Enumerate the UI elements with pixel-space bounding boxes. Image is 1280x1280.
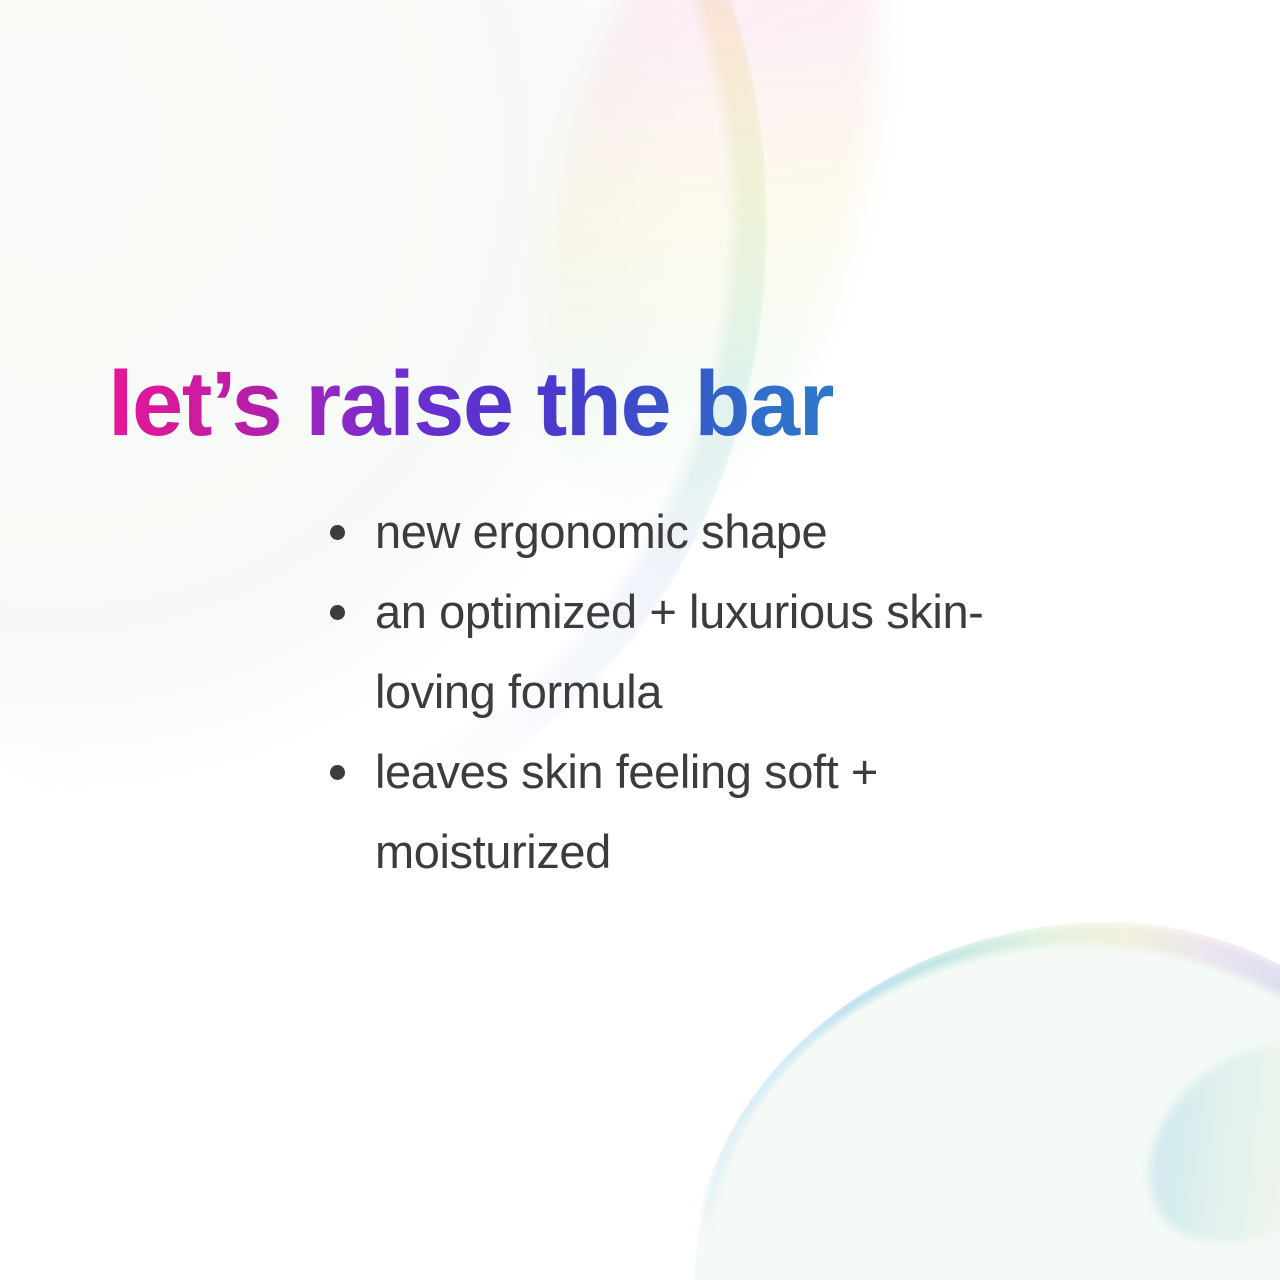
feature-bullet-list: new ergonomic shape an optimized + luxur…: [322, 492, 1042, 892]
list-item: an optimized + luxurious skin-loving for…: [322, 572, 1042, 732]
list-item: leaves skin feeling soft + moisturized: [322, 732, 1042, 892]
page-title: let’s raise the bar: [108, 358, 833, 450]
list-item: new ergonomic shape: [322, 492, 1042, 572]
bullet-dot-icon: [330, 525, 345, 540]
list-item-label: leaves skin feeling soft + moisturized: [375, 732, 1042, 892]
promo-graphic-canvas: let’s raise the bar new ergonomic shape …: [0, 0, 1280, 1280]
bullet-dot-icon: [330, 765, 345, 780]
content-layer: let’s raise the bar new ergonomic shape …: [0, 0, 1280, 1280]
list-item-label: new ergonomic shape: [375, 492, 1042, 572]
list-item-label: an optimized + luxurious skin-loving for…: [375, 572, 1042, 732]
bullet-dot-icon: [330, 605, 345, 620]
